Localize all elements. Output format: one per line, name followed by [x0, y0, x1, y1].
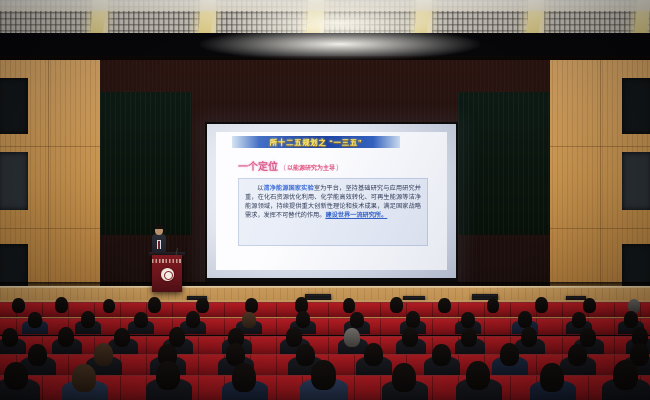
audience-head — [242, 312, 256, 328]
audience-head — [245, 298, 258, 313]
audience-head — [364, 343, 383, 366]
paren-close: ） — [336, 163, 343, 173]
audience-head — [580, 328, 596, 347]
stage-curtain-right — [458, 92, 550, 235]
presentation-slide: 所十二五规划之 “一三五” 一个定位 （ 以能源研究为主导 ） 以清净能源国家实… — [216, 132, 447, 270]
audience-head — [114, 328, 130, 347]
acoustic-wall-panel — [622, 78, 650, 134]
audience-head — [58, 327, 74, 347]
audience-head — [148, 297, 161, 313]
audience-head — [568, 344, 587, 366]
audience-head — [350, 312, 364, 328]
audience-area — [0, 296, 650, 400]
ceiling-glow — [225, 0, 455, 33]
audience-head — [296, 344, 315, 366]
podium-emblem-icon — [161, 268, 174, 281]
seat-row — [0, 302, 650, 317]
presenter-tie — [158, 241, 160, 249]
podium-inscription — [152, 259, 182, 263]
audience-head — [540, 363, 564, 392]
audience-head — [461, 328, 477, 347]
audience-head — [438, 298, 451, 313]
audience-head — [406, 311, 420, 328]
stage-curtain-left — [100, 92, 192, 235]
audience-head — [344, 328, 360, 347]
slide-title: 所十二五规划之 “一三五” — [270, 137, 362, 148]
acoustic-wall-panel — [0, 78, 28, 134]
audience-head — [518, 311, 532, 328]
audience-head — [28, 312, 42, 328]
slide-body-text: 以清净能源国家实验室为平台，坚持基础研究与应用研究并重，在化石资源优化利用、化学… — [245, 184, 421, 220]
audience-head — [28, 344, 47, 366]
audience-head — [392, 363, 416, 392]
projection-screen: 所十二五规划之 “一三五” 一个定位 （ 以能源研究为主导 ） 以清净能源国家实… — [207, 124, 456, 278]
slide-heading-main: 一个定位 — [238, 158, 278, 173]
audience-head — [343, 298, 355, 313]
auditorium-photo: 所十二五规划之 “一三五” 一个定位 （ 以能源研究为主导 ） 以清净能源国家实… — [0, 0, 650, 400]
slide-title-bar: 所十二五规划之 “一三五” — [232, 136, 400, 148]
audience-head — [156, 361, 180, 390]
audience-head — [186, 311, 200, 328]
audience-head — [94, 343, 113, 366]
audience-head — [390, 297, 403, 313]
paren-open: （ — [279, 163, 286, 173]
audience-head — [196, 298, 209, 313]
audience-head — [4, 362, 28, 390]
audience-head — [311, 360, 336, 390]
audience-head — [296, 311, 310, 328]
audience-head — [583, 298, 596, 313]
slide-body-box: 以清净能源国家实验室为平台，坚持基础研究与应用研究并重，在化石资源优化利用、化学… — [238, 178, 428, 246]
audience-head — [81, 311, 95, 328]
slide-heading-sub: 以能源研究为主导 — [287, 163, 335, 172]
audience-head — [232, 363, 256, 392]
audience-head — [72, 364, 96, 392]
audience-head — [286, 327, 302, 347]
acoustic-wall-panel — [622, 152, 650, 210]
body-highlight-1: 清净能源国家实验 — [263, 185, 314, 192]
audience-head — [12, 298, 25, 313]
audience-head — [461, 312, 475, 328]
slide-heading: 一个定位 （ 以能源研究为主导 ） — [238, 158, 343, 173]
acoustic-wall-panel — [0, 152, 28, 210]
audience-head — [572, 312, 586, 328]
audience-head — [402, 327, 418, 347]
audience-head — [2, 328, 18, 347]
audience-head — [535, 297, 548, 313]
audience-head — [55, 297, 68, 313]
audience-head — [432, 344, 451, 366]
audience-head — [134, 312, 148, 328]
audience-head — [613, 360, 638, 390]
presenter-hair — [155, 225, 163, 229]
audience-head — [103, 299, 115, 313]
audience-head — [500, 343, 519, 366]
left-side-wall — [0, 60, 108, 318]
right-side-wall — [542, 60, 650, 318]
body-highlight-2: 建设世界一流研究所。 — [325, 212, 387, 219]
audience-head — [624, 311, 638, 328]
audience-head — [521, 327, 537, 347]
audience-head — [487, 298, 499, 313]
audience-head — [466, 361, 490, 390]
